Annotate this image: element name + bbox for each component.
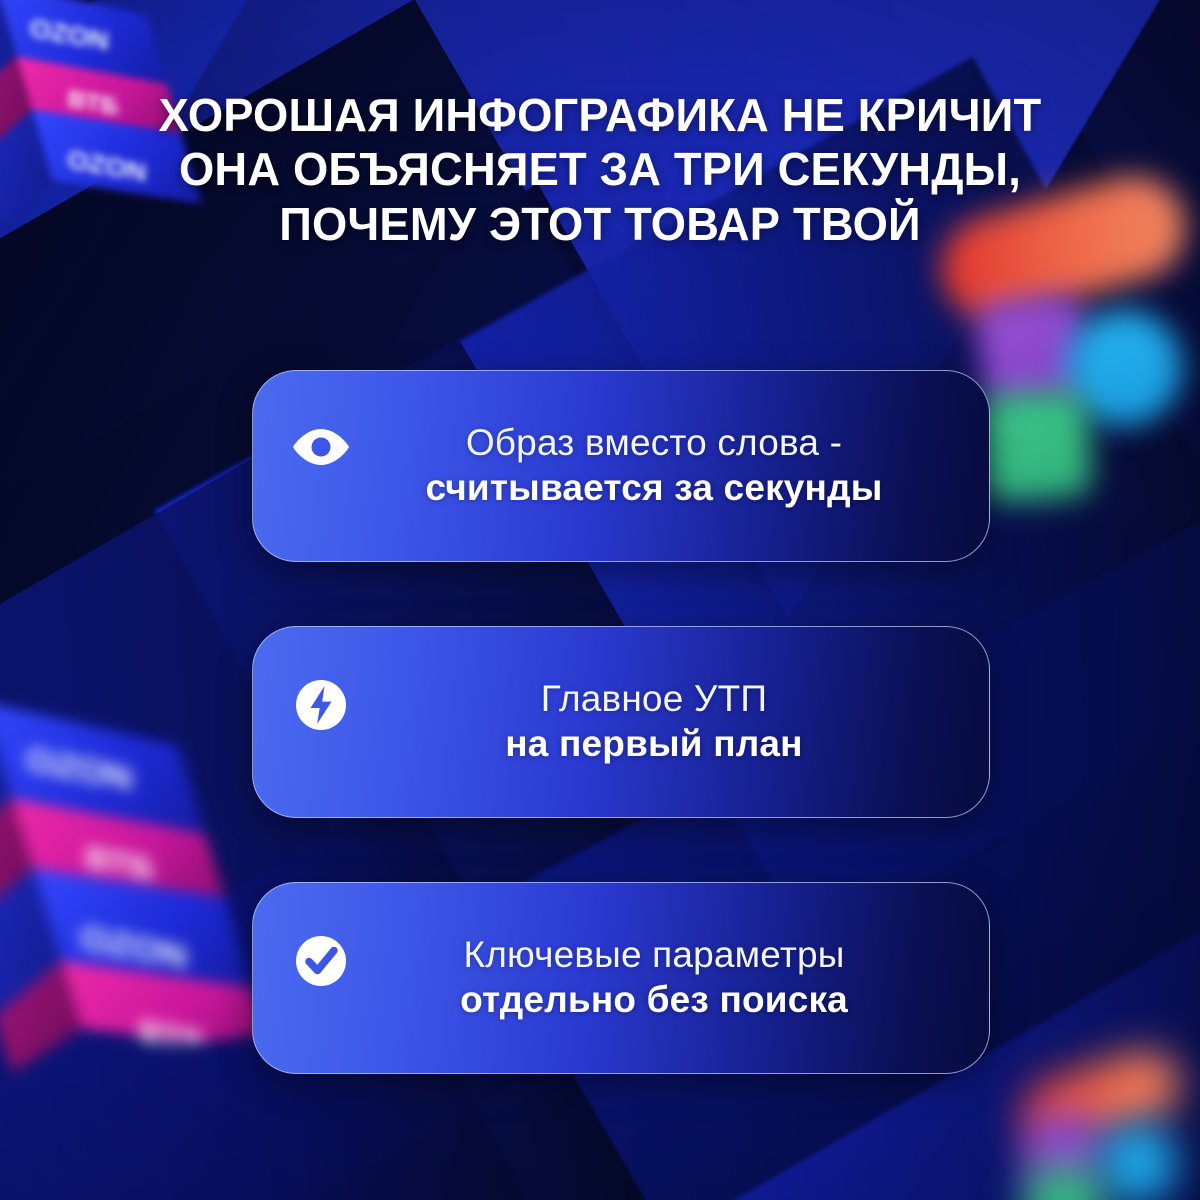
feature-card-line-1: Главное УТП: [363, 676, 945, 721]
headline-line-3: ПОЧЕМУ ЭТОТ ТОВАР ТВОЙ: [64, 197, 1136, 251]
slide-canvas: OZON ВТБ OZON OZON OZON ВТБ OZON ВТБ OZO…: [0, 0, 1200, 1200]
blob-square-green-top-right: [976, 388, 1093, 503]
feature-card-line-2: на первый план: [363, 721, 945, 767]
feature-card-line-2: отдельно без поиска: [363, 977, 945, 1023]
feature-card-line-1: Образ вместо слова -: [363, 420, 945, 465]
feature-card-text: Образ вместо слова - считывается за секу…: [359, 420, 989, 511]
feature-card-image-first[interactable]: Образ вместо слова - считывается за секу…: [252, 370, 990, 562]
headline-line-2: ОНА ОБЪЯСНЯЕТ ЗА ТРИ СЕКУНДЫ,: [64, 142, 1136, 196]
feature-card-text: Главное УТП на первый план: [359, 676, 989, 767]
blob-square-green-bottom-right: [1026, 1168, 1104, 1200]
headline: ХОРОШАЯ ИНФОГРАФИКА НЕ КРИЧИТ ОНА ОБЪЯСН…: [0, 88, 1200, 251]
eye-icon: [289, 415, 353, 479]
headline-line-1: ХОРОШАЯ ИНФОГРАФИКА НЕ КРИЧИТ: [64, 88, 1136, 142]
feature-card-line-1: Ключевые параметры: [363, 932, 945, 977]
feature-card-text: Ключевые параметры отдельно без поиска: [359, 932, 989, 1023]
feature-card-line-2: считывается за секунды: [363, 465, 945, 511]
feature-card-key-params[interactable]: Ключевые параметры отдельно без поиска: [252, 882, 990, 1074]
blob-circle-cyan-bottom-right: [1098, 1124, 1178, 1200]
feature-card-list: Образ вместо слова - считывается за секу…: [252, 370, 990, 1074]
feature-card-usp-first[interactable]: Главное УТП на первый план: [252, 626, 990, 818]
lightning-bolt-icon: [289, 673, 353, 737]
check-circle-icon: [289, 929, 353, 993]
